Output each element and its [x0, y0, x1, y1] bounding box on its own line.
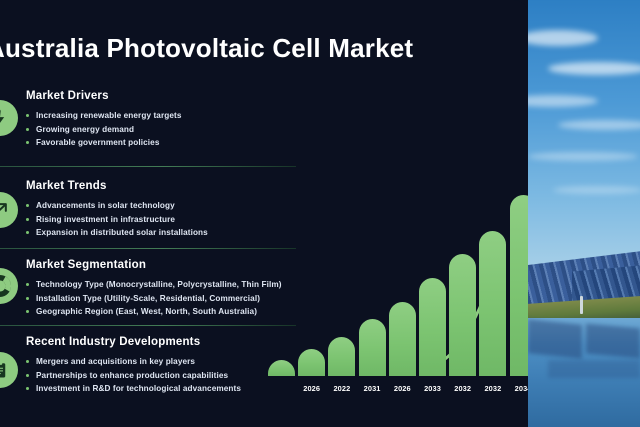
section-market-drivers: Market Drivers Increasing renewable ener… [0, 90, 300, 150]
list-item: Mergers and acquisitions in key players [26, 355, 300, 369]
chart-bar-label: 2026 [389, 384, 416, 393]
cloud [528, 152, 638, 161]
chart-bar-label: 2031 [359, 384, 386, 393]
section-bullets: Mergers and acquisitions in key players … [0, 355, 300, 396]
chart-bar [449, 254, 476, 376]
list-item: Investment in R&D for technological adva… [26, 382, 300, 396]
chart-bar-label: 2026 [298, 384, 325, 393]
list-item: Technology Type (Monocrystalline, Polycr… [26, 278, 300, 292]
list-item: Geographic Region (East, West, North, So… [26, 305, 300, 319]
page-title: Australia Photovoltaic Cell Market [0, 33, 456, 64]
water-reflection [528, 319, 582, 359]
list-item: Favorable government policies [26, 136, 300, 150]
chart-bar-label: 2033 [419, 384, 446, 393]
section-market-trends: Market Trends Advancements in solar tech… [0, 180, 300, 240]
section-market-segmentation: Market Segmentation Technology Type (Mon… [0, 259, 300, 319]
list-item: Increasing renewable energy targets [26, 109, 300, 123]
solar-farm-photo [528, 0, 640, 427]
chart-bar [328, 337, 355, 376]
chart-bar [510, 195, 528, 376]
section-heading: Market Trends [26, 180, 300, 192]
water-reflection [548, 360, 640, 378]
chart-bar [419, 278, 446, 376]
section-divider [0, 166, 296, 167]
list-item: Advancements in solar technology [26, 199, 300, 213]
chart-bar [359, 319, 386, 376]
list-item: Expansion in distributed solar installat… [26, 226, 300, 240]
section-divider [0, 248, 296, 249]
list-item: Rising investment in infrastructure [26, 213, 300, 227]
section-bullets: Increasing renewable energy targets Grow… [0, 109, 300, 150]
chart-bar [298, 349, 325, 376]
list-item: Installation Type (Utility-Scale, Reside… [26, 292, 300, 306]
chart-bar-label: 2022 [328, 384, 355, 393]
chart-bar [479, 231, 506, 376]
cloud [553, 186, 640, 194]
chart-bar [389, 302, 416, 376]
chart-bar [268, 360, 295, 376]
section-bullets: Technology Type (Monocrystalline, Polycr… [0, 278, 300, 319]
section-heading: Market Segmentation [26, 259, 300, 271]
cloud [548, 62, 640, 75]
section-bullets: Advancements in solar technology Rising … [0, 199, 300, 240]
chart-bar-label: 2032 [479, 384, 506, 393]
water-reflection [586, 324, 640, 359]
section-heading: Recent Industry Developments [26, 336, 300, 348]
section-heading: Market Drivers [26, 90, 300, 102]
chart-bar-label: 2032 [449, 384, 476, 393]
infographic-canvas: Australia Photovoltaic Cell Market Marke… [0, 0, 640, 427]
utility-post [580, 296, 583, 314]
list-item: Partnerships to enhance production capab… [26, 369, 300, 383]
chart-bar-label: 2034 [510, 384, 528, 393]
section-recent-industry-developments: Recent Industry Developments Mergers and… [0, 336, 300, 396]
list-item: Growing energy demand [26, 123, 300, 137]
content-panel: Australia Photovoltaic Cell Market Marke… [0, 0, 528, 427]
section-divider [0, 325, 296, 326]
growth-bar-chart: 20262022203120262033203220322034 [262, 170, 528, 402]
